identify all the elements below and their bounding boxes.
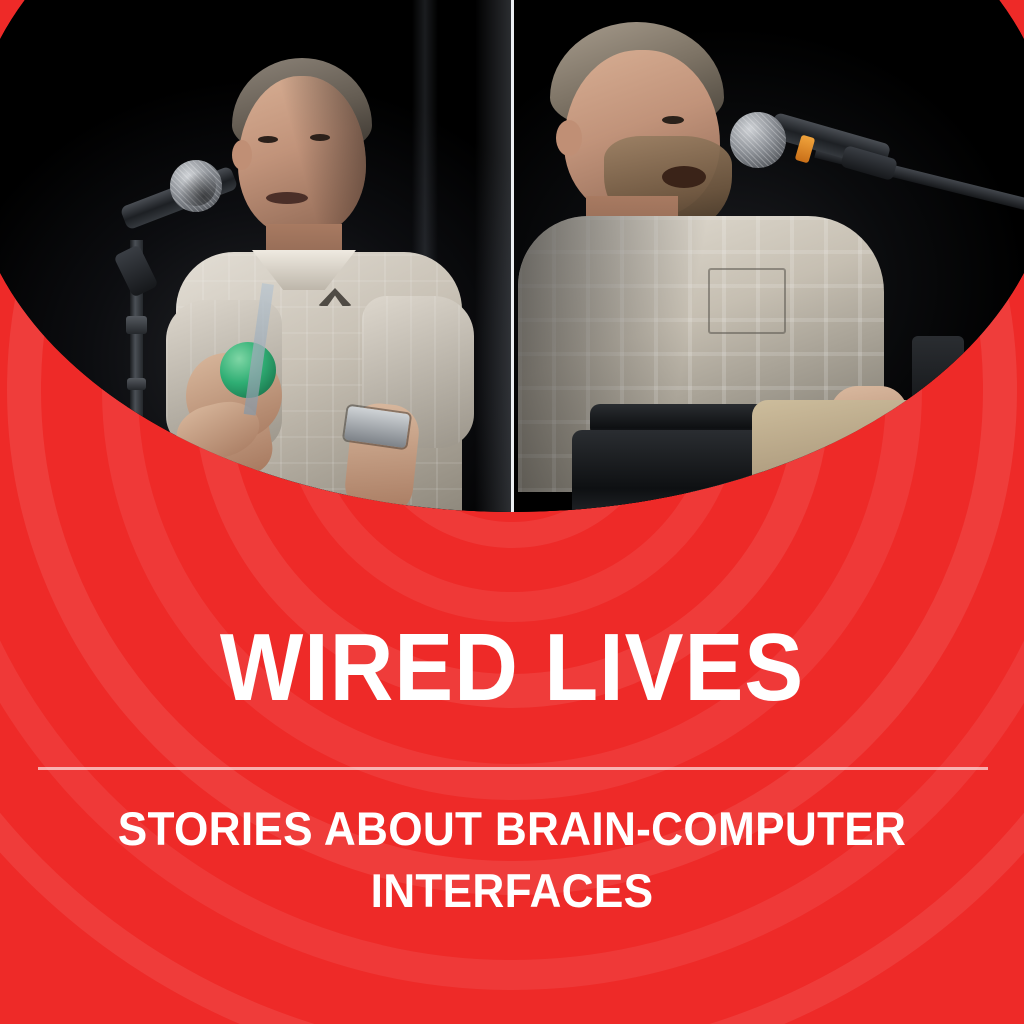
face-shadow-left [238, 76, 366, 236]
photo-left-speaker [0, 0, 512, 512]
chest-pocket-right [708, 268, 786, 334]
mouth-left [266, 192, 308, 204]
mic-grille-shadow-left [176, 166, 216, 206]
wheelchair-backrest [912, 336, 964, 476]
mic-stand-collar-left-2 [127, 378, 146, 390]
ear-right [556, 120, 582, 156]
page-title: WIRED LIVES [41, 620, 983, 716]
mouth-open-right [662, 166, 706, 188]
photo-right-speaker [512, 0, 1024, 512]
eye-right-1 [662, 116, 684, 124]
curtain-seam-left-2 [475, 0, 512, 512]
title-divider [38, 767, 988, 770]
mic-head-right [730, 112, 786, 168]
photo-arch-mask [0, 0, 1024, 512]
eye-left-2 [310, 134, 330, 141]
page-subtitle: STORIES ABOUT BRAIN-COMPUTER INTERFACES [115, 798, 908, 922]
photo-strip [0, 0, 1024, 512]
mic-stand-collar-left [126, 316, 147, 334]
text-block: WIRED LIVES STORIES ABOUT BRAIN-COMPUTER… [0, 512, 1024, 1024]
podcast-cover-art: WIRED LIVES STORIES ABOUT BRAIN-COMPUTER… [0, 0, 1024, 1024]
eye-left-1 [258, 136, 278, 143]
photo-divider-gap [511, 0, 514, 512]
